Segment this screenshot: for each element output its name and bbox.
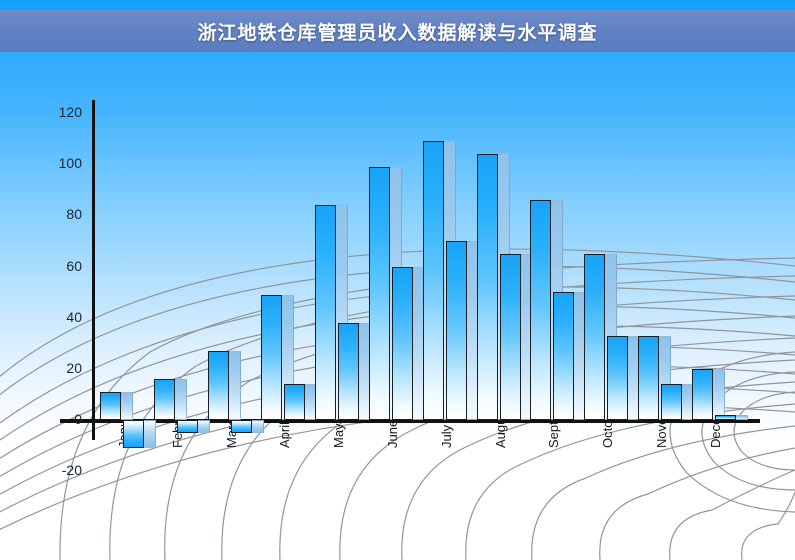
bar-series1-november[interactable] — [638, 336, 659, 420]
y-axis-line — [92, 100, 95, 440]
bar-series2-april[interactable] — [284, 384, 305, 420]
bar-series2-july[interactable] — [446, 241, 467, 420]
bar-series2-october[interactable] — [607, 336, 628, 420]
bar-series2-february[interactable] — [177, 420, 198, 433]
bar-series1-january[interactable] — [100, 392, 121, 420]
bar-series1-april[interactable] — [261, 295, 282, 420]
bar-series1-august[interactable] — [477, 154, 498, 420]
bar-series1-june[interactable] — [369, 167, 390, 420]
x-tick-label-may: May — [331, 423, 346, 448]
chart-screenshot: 浙江地铁仓库管理员收入数据解读与水平调查 120100806040200-20 … — [0, 0, 795, 560]
bar-series1-october[interactable] — [584, 254, 605, 420]
y-tick-label: 60 — [34, 258, 82, 274]
y-tick-label: 40 — [34, 309, 82, 325]
y-tick-label: -20 — [34, 462, 82, 478]
y-tick-label: 100 — [34, 155, 82, 171]
y-tick-label: 120 — [34, 104, 82, 120]
y-tick-label: 20 — [34, 360, 82, 376]
x-tick-label-july: July — [439, 425, 454, 448]
bar-series1-february[interactable] — [154, 379, 175, 420]
bar-series2-november[interactable] — [661, 384, 682, 420]
x-tick-label-june: June — [385, 420, 400, 448]
bar-series1-march[interactable] — [208, 351, 229, 420]
bar-series1-december[interactable] — [692, 369, 713, 420]
bar-series2-september[interactable] — [553, 292, 574, 420]
bar-series1-september[interactable] — [530, 200, 551, 420]
bar-series2-march[interactable] — [231, 420, 252, 433]
bar-series1-july[interactable] — [423, 141, 444, 420]
plot-area: 120100806040200-20 JanuaryFebruaryMarchA… — [0, 0, 795, 560]
bar-series1-may[interactable] — [315, 205, 336, 420]
bar-series2-august[interactable] — [500, 254, 521, 420]
bar-series2-december[interactable] — [715, 415, 736, 420]
bar-series2-may[interactable] — [338, 323, 359, 420]
x-tick-label-april: April — [277, 422, 292, 448]
bar-series2-june[interactable] — [392, 267, 413, 421]
y-tick-label: 80 — [34, 206, 82, 222]
y-tick-label: 0 — [34, 411, 82, 427]
bar-series2-january[interactable] — [123, 420, 144, 448]
